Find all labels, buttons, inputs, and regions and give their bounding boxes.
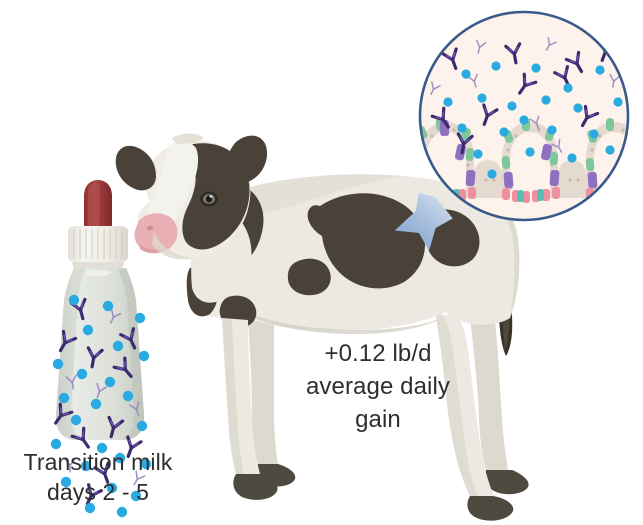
antigen-dot: [573, 103, 582, 112]
antigen-dot: [499, 127, 508, 136]
antigen-dot: [491, 61, 500, 70]
bottle-caption: Transition milk days 2 - 5: [0, 447, 196, 507]
antigen-dot: [595, 65, 604, 74]
antigen-dot: [457, 123, 466, 132]
average-daily-gain-caption: +0.12 lb/d average daily gain: [292, 337, 464, 436]
antigen-dot: [563, 83, 572, 92]
antigen-dot: [507, 101, 516, 110]
antigen-dot: [567, 153, 576, 162]
antigen-dot: [547, 125, 556, 134]
antigen-dot: [525, 147, 534, 156]
antigen-dot: [613, 97, 622, 106]
antigen-dot: [461, 69, 470, 78]
antigen-dot: [443, 97, 452, 106]
figure-canvas: Transition milk days 2 - 5 +0.12 lb/d av…: [0, 0, 643, 525]
antigen-dot: [541, 95, 550, 104]
antigen-dot: [477, 93, 486, 102]
antigen-dot: [589, 129, 598, 138]
antigen-dot: [531, 63, 540, 72]
antigen-dot: [473, 149, 482, 158]
antigen-dot: [487, 169, 496, 178]
antigen-dot: [605, 145, 614, 154]
antigen-dot: [519, 115, 528, 124]
